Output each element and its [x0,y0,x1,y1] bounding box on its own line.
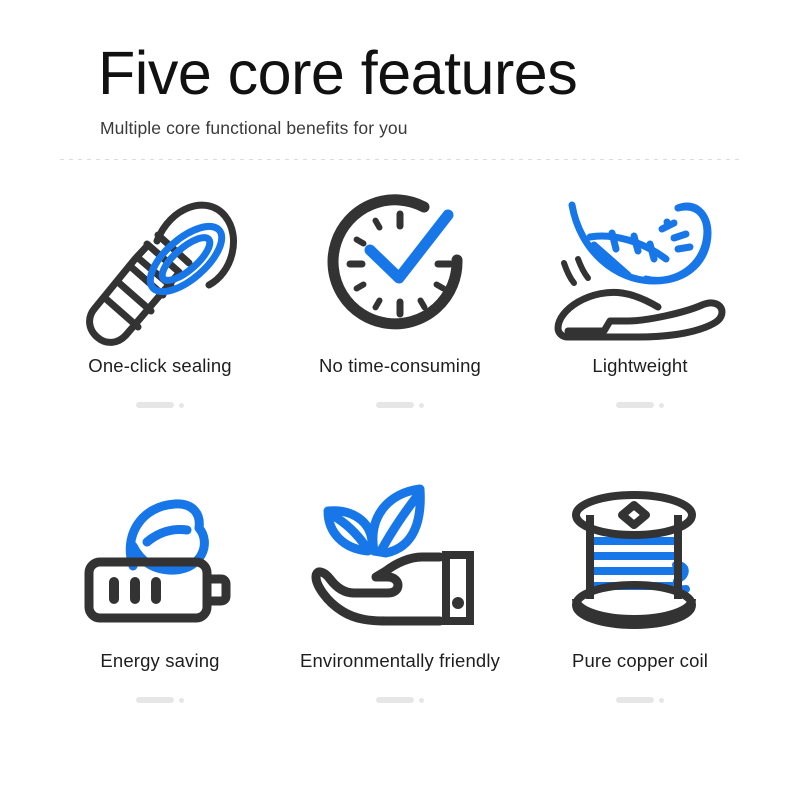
feature-label: Lightweight [592,355,687,377]
features-grid: One-click sealing [0,176,800,766]
feature-highlights-page: Five core features Multiple core functio… [0,0,800,800]
divider-bar [616,402,654,408]
divider-dot [179,698,184,703]
page-header: Five core features Multiple core functio… [0,0,800,139]
feature-divider [136,697,184,703]
feature-divider [616,402,664,408]
divider-bar [616,697,654,703]
feature-label: Energy saving [100,650,219,672]
feature-card-lightweight: Lightweight [520,176,760,471]
divider-dot [419,403,424,408]
divider-bar [136,697,174,703]
wire-spool-icon [520,471,760,646]
divider-dot [419,698,424,703]
divider-dot [659,403,664,408]
feature-label: Environmentally friendly [300,650,500,672]
feature-label: One-click sealing [88,355,231,377]
bottle-seal-icon [40,176,280,351]
battery-leaf-icon [40,471,280,646]
feature-card-environmentally-friendly[interactable]: Environmentally friendly [280,471,520,766]
divider-dot [659,698,664,703]
page-subtitle: Multiple core functional benefits for yo… [100,118,800,139]
feature-card-energy-saving[interactable]: Energy saving [40,471,280,766]
page-title: Five core features [98,42,800,104]
divider-bar [376,402,414,408]
feature-card-pure-copper-coil[interactable]: Pure copper coil [520,471,760,766]
divider-bar [376,697,414,703]
feature-card-one-click-sealing[interactable]: One-click sealing [40,176,280,471]
clock-check-icon [280,176,520,351]
hand-leaves-icon [280,471,520,646]
divider-bar [136,402,174,408]
divider-dot [179,403,184,408]
header-divider [60,159,740,160]
feature-card-no-time-consuming[interactable]: No time-consuming [280,176,520,471]
feature-label: No time-consuming [319,355,481,377]
feature-divider [616,697,664,703]
feature-divider [376,697,424,703]
feature-divider [136,402,184,408]
feather-hand-icon [520,176,760,351]
feature-divider [376,402,424,408]
feature-label: Pure copper coil [572,650,708,672]
